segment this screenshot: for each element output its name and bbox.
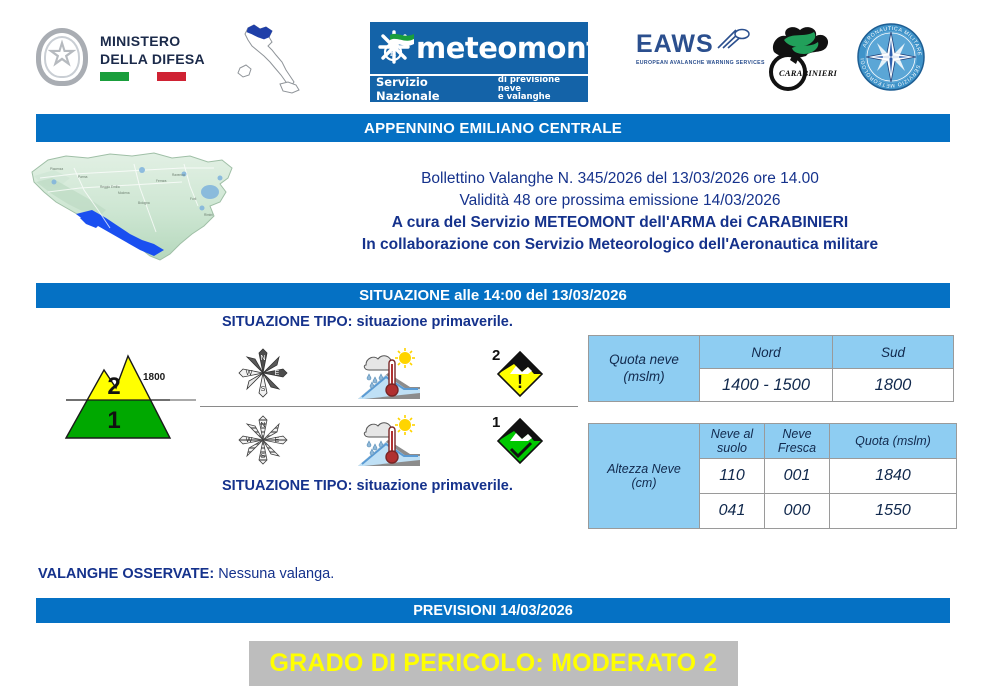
table-row: Altezza Neve (cm) Neve al suolo Neve Fre… (589, 424, 957, 459)
altezza-neve-table: Altezza Neve (cm) Neve al suolo Neve Fre… (588, 423, 957, 529)
situazione-tipo-top: SITUAZIONE TIPO: situazione primaverile. (222, 314, 513, 330)
quota-header-nord: Nord (700, 336, 833, 369)
danger-pyramid-icon: 2 1 (58, 348, 198, 440)
svg-text:!: ! (517, 372, 523, 392)
bulletin-info: Bollettino Valanghe N. 345/2026 del 13/0… (270, 168, 970, 256)
grado-pericolo-banner: GRADO DI PERICOLO: MODERATO 2 (249, 641, 738, 686)
svg-text:Piacenza: Piacenza (50, 167, 63, 171)
svg-text:E: E (275, 437, 280, 444)
republic-emblem-icon (34, 24, 90, 90)
altezza-label-line1: Altezza Neve (590, 462, 698, 476)
pyramid-upper-level: 2 (107, 373, 120, 400)
ministero-line1: MINISTERO (100, 34, 205, 48)
ministero-line2: DELLA DIFESA (100, 52, 205, 66)
danger-diamond-yellow-icon: 2 ! (452, 345, 578, 401)
zone-title: APPENNINO EMILIANO CENTRALE (364, 120, 622, 137)
previsioni-bar-title: PREVISIONI 14/03/2026 (413, 603, 573, 619)
pyramid-altitude-label: 1800 (143, 372, 165, 383)
danger-diamond-green-icon: 1 (452, 412, 578, 468)
neve-r2-suolo: 041 (700, 494, 765, 529)
meteomont-subtitle-1: di previsione neve (498, 76, 582, 94)
altezza-label-line2: (cm) (590, 476, 698, 490)
neve-header-fresca: Neve Fresca (765, 424, 830, 459)
danger-level-bottom: 1 (492, 414, 500, 431)
svg-text:Reggio Emilia: Reggio Emilia (100, 185, 120, 189)
quota-neve-row-label: Quota neve (mslm) (589, 336, 700, 402)
quota-label-line2: (mslm) (590, 369, 698, 385)
grado-pericolo-text: GRADO DI PERICOLO: MODERATO 2 (270, 649, 718, 678)
quota-value-nord: 1400 - 1500 (700, 369, 833, 402)
svg-text:W: W (246, 437, 253, 444)
bulletin-line-2: Validità 48 ore prossima emissione 14/03… (270, 190, 970, 212)
svg-text:Modena: Modena (118, 191, 130, 195)
situazione-tipo-bottom: SITUAZIONE TIPO: situazione primaverile. (222, 478, 513, 494)
neve-header-suolo: Neve al suolo (700, 424, 765, 459)
svg-text:Ravenna: Ravenna (172, 173, 185, 177)
svg-text:N: N (260, 355, 265, 362)
quota-label-line1: Quota neve (590, 352, 698, 368)
italy-map-logo (228, 22, 306, 96)
carabinieri-logo: CARABINIERI (762, 22, 842, 94)
aeronautica-seal-icon: AERONAUTICA MILITARE SERVIZIO METEOROLOG… (856, 22, 926, 92)
cloud-rain-sun-thermometer-icon (326, 412, 452, 468)
svg-text:Bologna: Bologna (138, 201, 150, 205)
eaws-swoosh-icon (716, 28, 750, 50)
situazione-bar-title: SITUAZIONE alle 14:00 del 13/03/2026 (359, 287, 627, 304)
eaws-logo: EAWS EUROPEAN AVALANCHE WARNING SERVICES (636, 32, 765, 66)
header-logo-strip: MINISTERO DELLA DIFESA (0, 0, 987, 112)
compass-rose-dark-icon: N E S W (200, 345, 326, 401)
neve-header-quota: Quota (mslm) (830, 424, 957, 459)
svg-text:W: W (246, 370, 253, 377)
quota-neve-table: Quota neve (mslm) Nord Sud 1400 - 1500 1… (588, 335, 954, 402)
bulletin-line-1: Bollettino Valanghe N. 345/2026 del 13/0… (270, 168, 970, 190)
svg-text:N: N (260, 422, 265, 429)
meteomont-subtitle-2: e valanghe (498, 93, 582, 102)
italy-outline-icon (228, 22, 306, 96)
table-row: Quota neve (mslm) Nord Sud (589, 336, 954, 369)
bulletin-line-3: A cura del Servizio METEOMONT dell'ARMA … (270, 212, 970, 234)
situazione-row-top: N E S W (200, 345, 578, 401)
neve-r1-quota: 1840 (830, 459, 957, 494)
neve-r2-fresca: 000 (765, 494, 830, 529)
situazione-row-bottom: N E S W (200, 412, 578, 468)
italian-flag-icon (100, 72, 186, 81)
aeronautica-militare-logo: AERONAUTICA MILITARE SERVIZIO METEOROLOG… (856, 22, 926, 92)
altezza-neve-row-label: Altezza Neve (cm) (589, 424, 700, 529)
bulletin-line-4: In collaborazione con Servizio Meteorolo… (270, 234, 970, 256)
quota-value-sud: 1800 (833, 369, 954, 402)
svg-text:Parma: Parma (78, 175, 88, 179)
meteomont-logo: R meteomont Servizio Nazionale di previs… (370, 22, 588, 102)
svg-text:E: E (275, 370, 280, 377)
situazione-bar: SITUAZIONE alle 14:00 del 13/03/2026 (36, 283, 950, 308)
region-map: Bologna Parma Reggio Emilia Modena Raven… (14, 148, 250, 272)
quota-header-sud: Sud (833, 336, 954, 369)
meteomont-service: Servizio Nazionale (376, 75, 490, 103)
pyramid-lower-level: 1 (107, 407, 120, 434)
neve-r2-quota: 1550 (830, 494, 957, 529)
neve-r1-suolo: 110 (700, 459, 765, 494)
svg-text:Forlì: Forlì (190, 197, 196, 201)
situazione-row-divider (200, 406, 578, 407)
snowflake-flag-icon: R (376, 27, 418, 69)
valanghe-value: Nessuna valanga. (214, 566, 334, 582)
carabinieri-flame-icon (762, 22, 842, 94)
zone-title-bar: APPENNINO EMILIANO CENTRALE (36, 114, 950, 142)
svg-text:S: S (261, 386, 266, 393)
eaws-subtitle: EUROPEAN AVALANCHE WARNING SERVICES (636, 60, 765, 66)
ministero-difesa-logo: MINISTERO DELLA DIFESA (34, 24, 205, 90)
previsioni-bar: PREVISIONI 14/03/2026 (36, 598, 950, 623)
danger-level-top: 2 (492, 347, 500, 364)
svg-text:S: S (261, 453, 266, 460)
svg-text:Rimini: Rimini (204, 213, 213, 217)
eaws-wordmark: EAWS (636, 32, 714, 57)
svg-text:R: R (390, 48, 397, 59)
meteomont-wordmark: meteomont (416, 31, 600, 65)
carabinieri-label: CARABINIERI (779, 68, 837, 78)
valanghe-osservate: VALANGHE OSSERVATE: Nessuna valanga. (38, 566, 334, 582)
neve-r1-fresca: 001 (765, 459, 830, 494)
valanghe-key: VALANGHE OSSERVATE: (38, 566, 214, 582)
cloud-rain-sun-thermometer-icon (326, 345, 452, 401)
compass-rose-striped-icon: N E S W (200, 412, 326, 468)
svg-text:Ferrara: Ferrara (156, 179, 167, 183)
